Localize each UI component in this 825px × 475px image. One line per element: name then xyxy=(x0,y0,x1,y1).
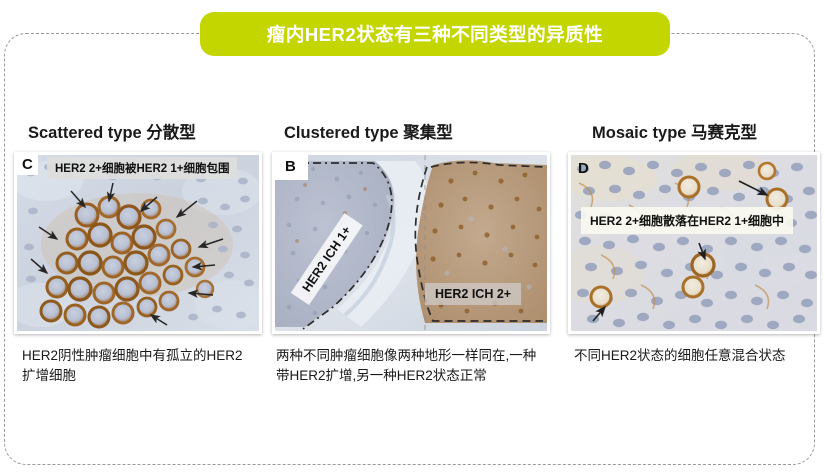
column-heading-mosaic: Mosaic type 马赛克型 xyxy=(568,118,820,148)
histology-illustration-d xyxy=(571,155,817,331)
micrograph-image-b: B HER2 ICH 1+ HER2 ICH 2+ xyxy=(275,155,547,331)
title-banner-text: 瘤内HER2状态有三种不同类型的异质性 xyxy=(267,21,603,47)
column-heading-scattered: Scattered type 分散型 xyxy=(14,118,262,148)
panel-letter-b: B xyxy=(275,155,308,180)
panel-letter-d: D xyxy=(573,159,594,179)
panel-letter-c: C xyxy=(17,155,38,175)
micrograph-image-d: D HER2 2+细胞散落在HER2 1+细胞中 xyxy=(571,155,817,331)
slide-canvas: 瘤内HER2状态有三种不同类型的异质性 Scattered type 分散型 xyxy=(0,0,825,475)
micrograph-image-c: C HER2 2+细胞被HER2 1+细胞包围 xyxy=(17,155,259,331)
image-label-d: HER2 2+细胞散落在HER2 1+细胞中 xyxy=(581,207,793,234)
micrograph-panel-d[interactable]: D HER2 2+细胞散落在HER2 1+细胞中 xyxy=(568,152,820,334)
histology-illustration-c xyxy=(17,155,259,331)
column-scattered-type: Scattered type 分散型 xyxy=(14,118,262,386)
column-mosaic-type: Mosaic type 马赛克型 xyxy=(568,118,820,366)
micrograph-panel-b[interactable]: B HER2 ICH 1+ HER2 ICH 2+ xyxy=(272,152,550,334)
micrograph-panel-c[interactable]: C HER2 2+细胞被HER2 1+细胞包围 xyxy=(14,152,262,334)
column-heading-clustered: Clustered type 聚集型 xyxy=(272,118,550,148)
image-label-c: HER2 2+细胞被HER2 1+细胞包围 xyxy=(47,157,237,179)
column-clustered-type: Clustered type 聚集型 xyxy=(272,118,550,386)
title-banner: 瘤内HER2状态有三种不同类型的异质性 xyxy=(200,12,670,56)
caption-clustered: 两种不同肿瘤细胞像两种地形一样同在,一种带HER2扩增,另一种HER2状态正常 xyxy=(272,346,544,386)
caption-mosaic: 不同HER2状态的细胞任意混合状态 xyxy=(568,346,814,366)
region-label-her2-ich-2plus: HER2 ICH 2+ xyxy=(425,283,521,305)
caption-scattered: HER2阴性肿瘤细胞中有孤立的HER2扩增细胞 xyxy=(14,346,254,386)
